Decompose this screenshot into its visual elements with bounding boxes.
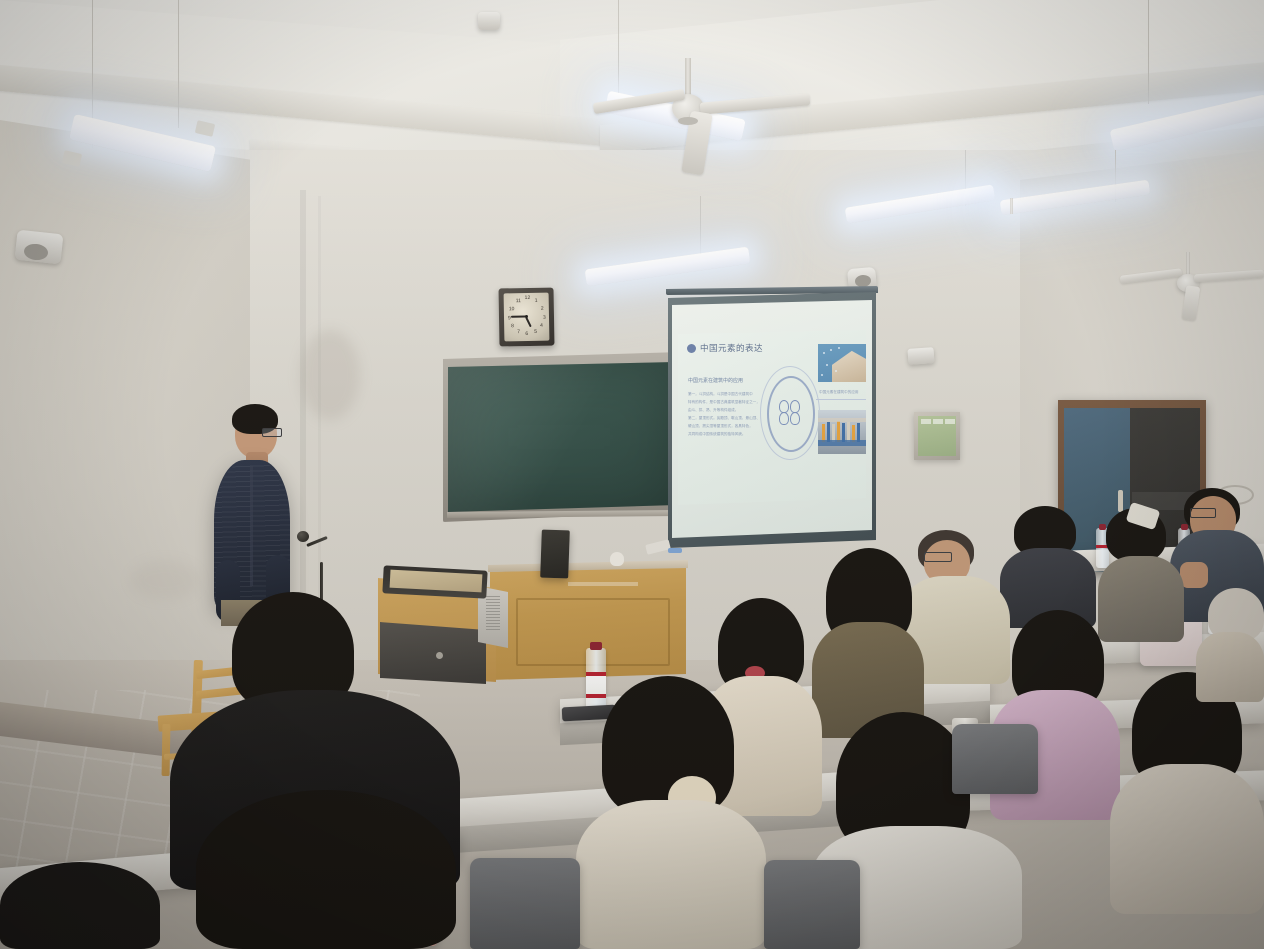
roof-silhouette bbox=[832, 344, 866, 382]
microphone-head[interactable] bbox=[297, 531, 309, 542]
bracket-top-rail bbox=[818, 418, 866, 422]
bracket-base-rail bbox=[818, 440, 866, 446]
sky-speck bbox=[830, 349, 832, 351]
clock-minute-hand bbox=[511, 316, 526, 318]
clock-numeral: 1 bbox=[535, 298, 538, 304]
slide-divider bbox=[816, 399, 866, 400]
notice-board bbox=[914, 412, 960, 460]
notice-board-surface bbox=[918, 416, 956, 456]
fan-downrod bbox=[1010, 198, 1013, 214]
blackboard bbox=[443, 352, 681, 522]
slide-emblem-petal bbox=[779, 412, 789, 425]
bottle-band bbox=[586, 694, 606, 698]
seat-back bbox=[764, 860, 860, 949]
bottle-cap bbox=[1181, 524, 1188, 530]
clock-hour-hand bbox=[525, 317, 532, 328]
person-torso bbox=[1110, 764, 1264, 914]
clock-numeral: 3 bbox=[543, 315, 546, 321]
lecture-hall-photo: 12 1 2 3 4 5 6 7 8 9 10 11 bbox=[0, 0, 1264, 949]
water-bottle[interactable] bbox=[586, 648, 606, 710]
slide-body-line: 特有的构件，是中国古典建筑显著特征之一， bbox=[688, 398, 762, 406]
presenter-zipper bbox=[250, 466, 253, 586]
person-hair bbox=[196, 790, 456, 949]
bracket-element bbox=[827, 422, 830, 442]
light-cord bbox=[178, 0, 179, 128]
slide-emblem-petal bbox=[790, 412, 800, 425]
light-cord bbox=[1148, 0, 1149, 104]
clock-numeral: 8 bbox=[511, 323, 514, 329]
notice-cell bbox=[945, 419, 955, 424]
cabinet-door bbox=[380, 622, 486, 684]
person-torso bbox=[576, 800, 766, 949]
wall-clock: 12 1 2 3 4 5 6 7 8 9 10 11 bbox=[498, 288, 554, 347]
slide-image-dougong-photo bbox=[818, 410, 866, 454]
slide-image-roof-photo bbox=[818, 344, 866, 382]
projector-mount bbox=[907, 347, 934, 365]
slide-subheading: 中国元素在建筑中的应用 bbox=[688, 377, 743, 384]
door-handle[interactable] bbox=[1118, 490, 1123, 512]
bottle-band bbox=[586, 672, 606, 676]
clock-numeral: 10 bbox=[509, 306, 515, 312]
cabinet-vent bbox=[486, 596, 500, 632]
person-torso bbox=[1196, 632, 1264, 702]
tissue-box bbox=[610, 552, 624, 566]
wall-seam bbox=[300, 190, 306, 660]
sky-speck bbox=[821, 374, 823, 376]
bottle-cap bbox=[1099, 524, 1106, 530]
eyeglasses-icon bbox=[262, 428, 282, 437]
sky-speck bbox=[823, 352, 825, 354]
slide-body-line: 由斗、拱、昂、升等构件组成。 bbox=[688, 406, 762, 414]
eyeglasses-icon bbox=[924, 552, 952, 562]
slide-body-line: 硬山顶、攒尖顶等屋顶形式，各具特色， bbox=[688, 422, 762, 430]
fan-light-kit bbox=[678, 117, 698, 125]
wall-mark bbox=[300, 330, 360, 420]
smoke-detector-icon bbox=[478, 12, 500, 30]
presenter-hairline bbox=[238, 406, 274, 422]
clock-numeral: 11 bbox=[516, 298, 521, 304]
seat-back bbox=[470, 858, 580, 949]
slide-body-line: 第一，斗拱结构。斗拱是中国古代建筑中 bbox=[688, 390, 762, 398]
bracket-element bbox=[837, 421, 840, 442]
slide-title: 中国元素的表达 bbox=[700, 342, 763, 354]
notice-cell bbox=[921, 419, 931, 424]
cabinet-lock[interactable] bbox=[436, 652, 443, 659]
sky-speck bbox=[835, 370, 837, 372]
bracket-element bbox=[847, 422, 850, 442]
sky-speck bbox=[826, 364, 828, 366]
slide-image-caption: 中国元素在建筑中的应用 bbox=[819, 390, 859, 395]
slide-body-line: 共同构成中国传统建筑的独特风貌。 bbox=[688, 430, 762, 438]
clock-numeral: 7 bbox=[517, 329, 520, 335]
clock-numeral: 5 bbox=[534, 329, 537, 335]
person-hair bbox=[0, 862, 160, 949]
slide-body-text: 第一，斗拱结构。斗拱是中国古代建筑中 特有的构件，是中国古典建筑显著特征之一， … bbox=[688, 390, 762, 452]
presentation-slide: 中国元素的表达 中国元素在建筑中的应用 第一，斗拱结构。斗拱是中国古代建筑中 特… bbox=[678, 330, 866, 505]
chair-leg bbox=[162, 724, 171, 776]
clock-center-pin bbox=[525, 315, 528, 318]
lectern-seam bbox=[568, 582, 638, 586]
notice-cell bbox=[933, 419, 943, 424]
clock-numeral: 2 bbox=[541, 306, 544, 312]
clock-numeral: 6 bbox=[525, 331, 528, 337]
clock-numeral: 12 bbox=[525, 295, 531, 301]
clock-face: 12 1 2 3 4 5 6 7 8 9 10 11 bbox=[504, 293, 550, 342]
bottle-cap bbox=[590, 642, 602, 650]
person-torso bbox=[1098, 556, 1184, 642]
eyeglasses-icon bbox=[1190, 508, 1216, 518]
clock-numeral: 4 bbox=[540, 323, 543, 329]
wall-mark bbox=[130, 560, 200, 600]
seat-back bbox=[952, 724, 1038, 794]
slide-body-line: 第二，屋顶形式。庑殿顶、歇山顶、悬山顶、 bbox=[688, 414, 762, 422]
sky-speck bbox=[838, 347, 840, 349]
screen-canvas: 中国元素的表达 中国元素在建筑中的应用 第一，斗拱结构。斗拱是中国古代建筑中 特… bbox=[672, 300, 872, 538]
person-hand bbox=[1180, 562, 1208, 588]
laptop[interactable] bbox=[540, 530, 570, 579]
slide-bullet-icon bbox=[687, 344, 696, 353]
projection-screen: 中国元素的表达 中国元素在建筑中的应用 第一，斗拱结构。斗拱是中国古代建筑中 特… bbox=[668, 292, 876, 548]
blackboard-glare bbox=[448, 362, 676, 512]
marker-pen[interactable] bbox=[668, 548, 682, 553]
